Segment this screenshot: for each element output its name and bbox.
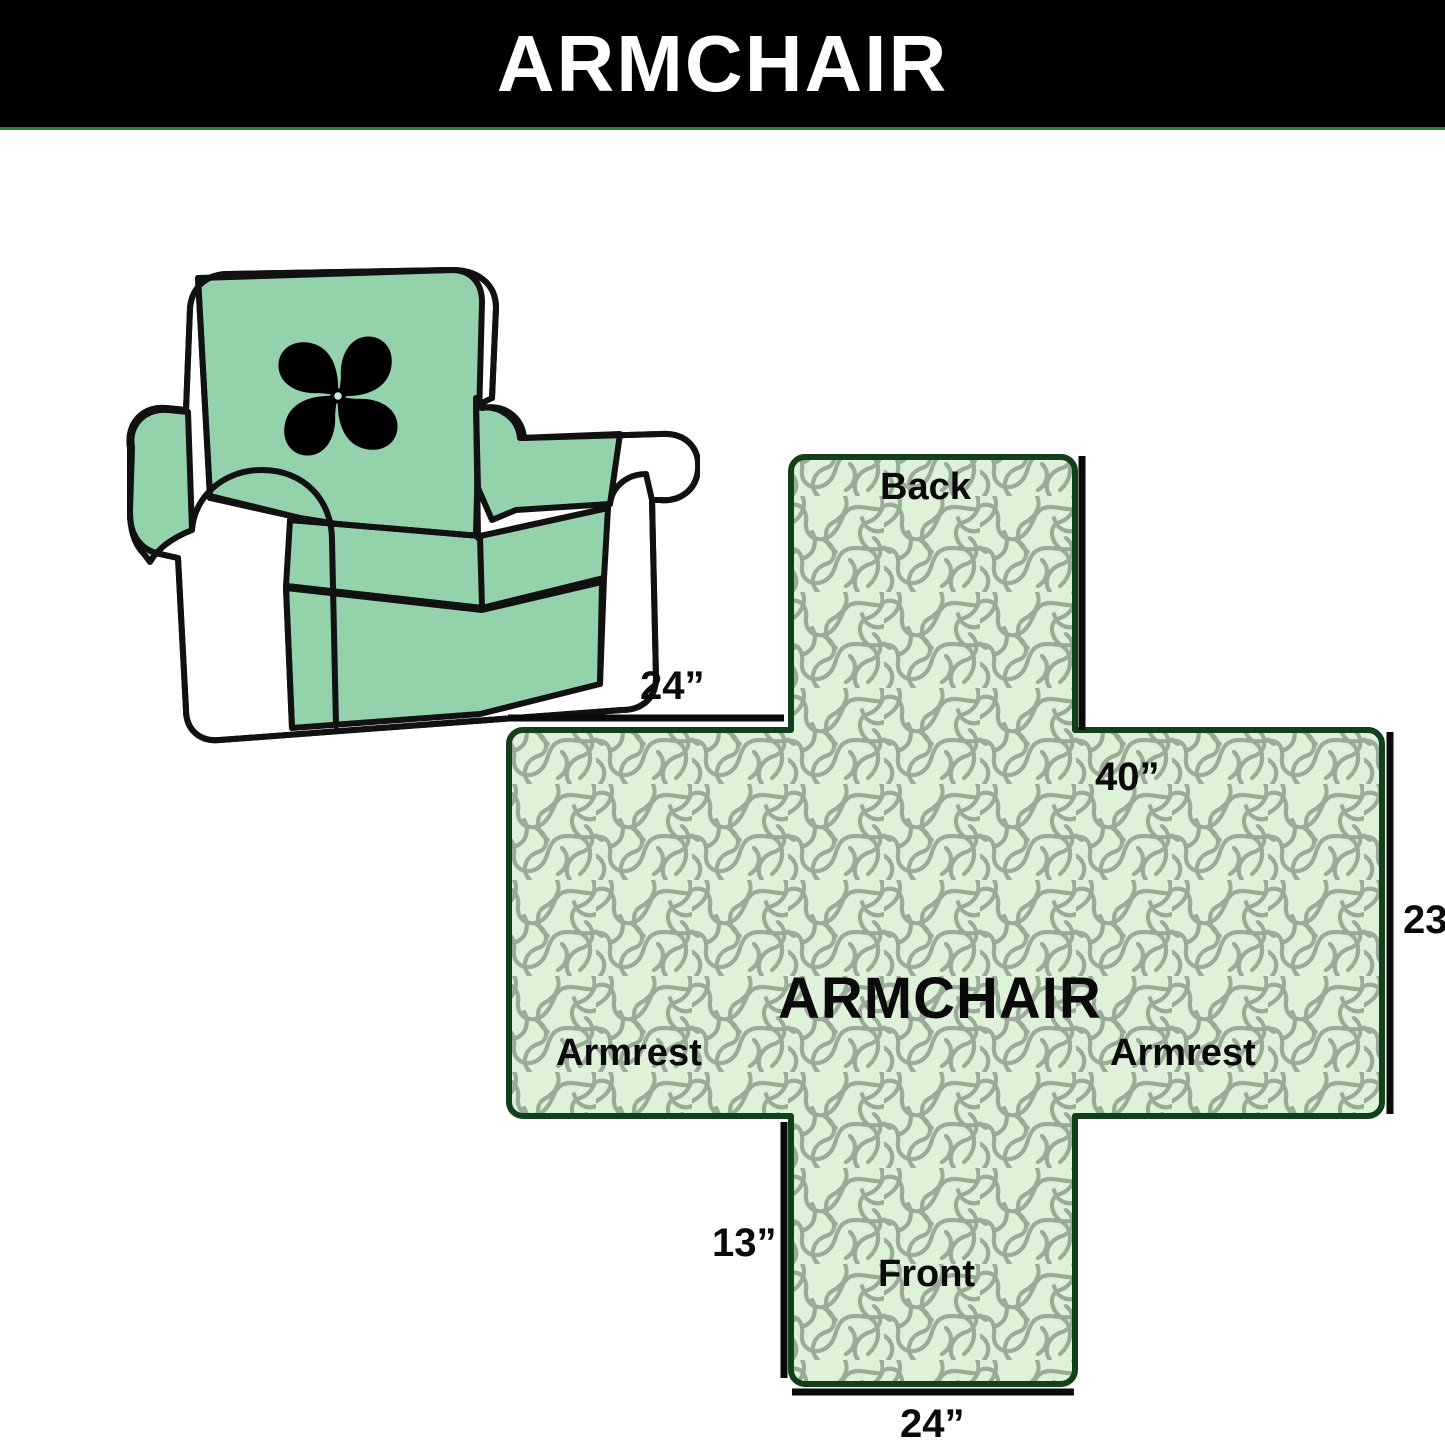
page-header: ARMCHAIR [0,0,1445,130]
cross-outline [509,457,1382,1384]
slipcover-flat-diagram: 40” 24” 23” 13” 24” Back Armrest Armrest… [500,400,1445,1445]
diagram-center-label: ARMCHAIR [778,970,1102,1028]
panel-label-front: Front [878,1255,975,1293]
dimension-label-back-height: 40” [1095,757,1160,797]
dimension-label-armrest-height: 23” [1403,900,1445,940]
dimension-label-front-height: 13” [712,1223,777,1263]
dimension-label-armrest-width: 24” [640,666,705,706]
page-title: ARMCHAIR [497,24,949,104]
panel-label-back: Back [880,468,971,506]
dimension-label-front-width: 24” [900,1404,965,1444]
panel-label-armrest-left: Armrest [556,1034,702,1072]
diagram-stage: 40” 24” 23” 13” 24” Back Armrest Armrest… [0,133,1445,1445]
panel-label-armrest-right: Armrest [1110,1034,1256,1072]
